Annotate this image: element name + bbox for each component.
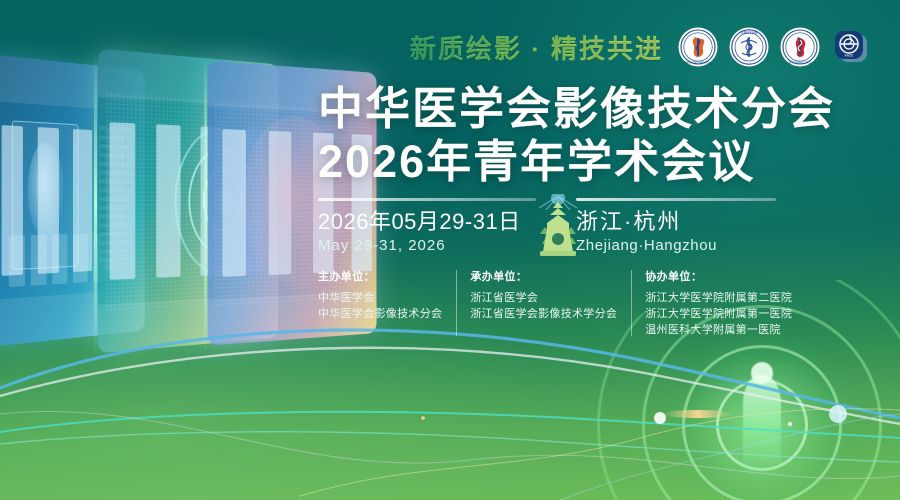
location-chinese: 浙江·杭州 <box>576 208 717 235</box>
conference-location: 浙江·杭州 Zhejiang·Hangzhou <box>576 208 717 256</box>
hospital-shield-logo: AHZU <box>830 26 872 68</box>
organizer-item: 中华医学会 <box>318 290 442 306</box>
organizer-heading: 承办单位： <box>470 268 617 284</box>
title-line-2: 2026年青年学术会议 <box>318 135 878 188</box>
date-chinese: 2026年05月29-31日 <box>318 208 521 235</box>
organizer-item: 浙江大学医学院附属第一医院 <box>645 306 792 322</box>
organizer-column-host: 主办单位： 中华医学会 中华医学会影像技术分会 <box>318 268 456 338</box>
conference-poster: 新质绘影 · 精技共进 CHINESE MEDICAL <box>0 0 900 500</box>
zhejiang-medical-association-logo: ZHEJIANG 1912 <box>779 26 821 68</box>
svg-text:AHZU: AHZU <box>845 54 854 58</box>
svg-text:CHINESE MEDICAL: CHINESE MEDICAL <box>684 60 713 64</box>
divider-rule-right <box>576 198 776 201</box>
organizer-heading: 协办单位： <box>645 268 792 284</box>
radiology-society-logo: 影像技术分会 <box>728 26 770 68</box>
organizer-heading: 主办单位： <box>318 268 442 284</box>
date-location-band: 2026年05月29-31日 May 29-31, 2026 <box>318 198 776 256</box>
divider-rule-left <box>318 198 536 201</box>
organizer-item: 浙江省医学会 <box>470 290 617 306</box>
organizer-block: 主办单位： 中华医学会 中华医学会影像技术分会 承办单位： 浙江省医学会 浙江省… <box>318 268 806 338</box>
organizer-column-undertaker: 承办单位： 浙江省医学会 浙江省医学会影像技术学分会 <box>456 268 631 338</box>
svg-text:ZHEJIANG 1912: ZHEJIANG 1912 <box>788 60 811 64</box>
location-english: Zhejiang·Hangzhou <box>576 235 717 256</box>
chinese-medical-association-logo: CHINESE MEDICAL <box>677 26 719 68</box>
conference-date: 2026年05月29-31日 May 29-31, 2026 <box>318 208 521 256</box>
organization-logos: CHINESE MEDICAL 影像技术分会 <box>677 26 872 68</box>
conference-slogan: 新质绘影 · 精技共进 <box>410 29 663 66</box>
poster-header: 新质绘影 · 精技共进 CHINESE MEDICAL <box>0 18 900 76</box>
organizer-item: 中华医学会影像技术分会 <box>318 306 442 322</box>
decorative-wave-lines <box>0 310 900 500</box>
organizer-item: 温州医科大学附属第一医院 <box>645 322 792 338</box>
conference-title-block: 中华医学会影像技术分会 2026年青年学术会议 <box>318 82 878 188</box>
organizer-column-coorganizer: 协办单位： 浙江大学医学院附属第二医院 浙江大学医学院附属第一医院 温州医科大学… <box>631 268 806 338</box>
svg-text:影像技术分会: 影像技术分会 <box>741 30 757 34</box>
organizer-item: 浙江大学医学院附属第二医院 <box>645 290 792 306</box>
date-english: May 29-31, 2026 <box>318 235 521 256</box>
title-line-1: 中华医学会影像技术分会 <box>318 82 878 135</box>
organizer-item: 浙江省医学会影像技术学分会 <box>470 306 617 322</box>
